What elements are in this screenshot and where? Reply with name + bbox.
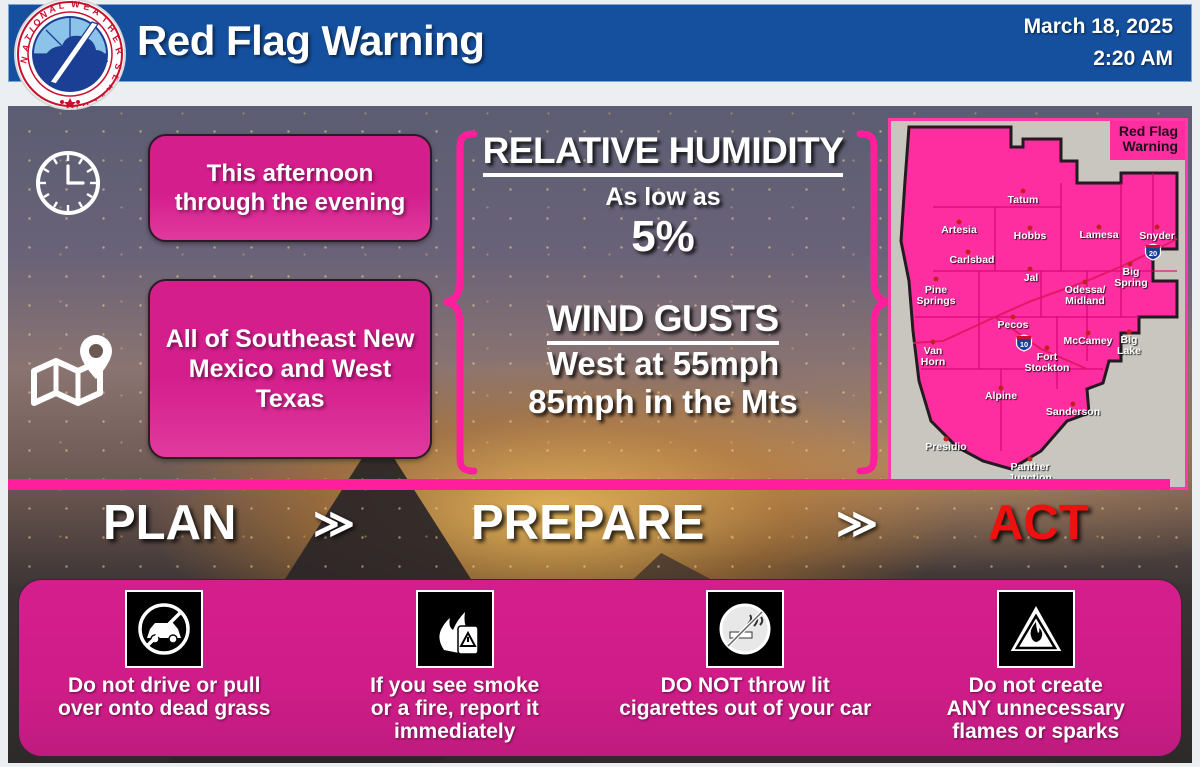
prepare-label: PREPARE — [471, 495, 704, 551]
city-label: BigSpring — [1114, 267, 1147, 288]
legend-line-2: Warning — [1119, 139, 1178, 154]
city-label: Carlsbad — [950, 255, 995, 266]
legend-line-1: Red Flag — [1119, 124, 1178, 139]
act-label: ACT — [988, 495, 1089, 551]
interstate-shield-icon: 10 — [1016, 335, 1033, 352]
city-label: McCamey — [1063, 336, 1112, 347]
wind-heading: WIND GUSTS — [547, 298, 778, 345]
page-title: Red Flag Warning — [137, 17, 484, 65]
city-dot — [1045, 346, 1050, 351]
map-legend: Red Flag Warning — [1110, 121, 1185, 160]
city-dot — [1155, 225, 1160, 230]
clock-icon — [33, 148, 103, 218]
svg-text:W: W — [71, 0, 81, 10]
city-label: Presidio — [925, 442, 966, 453]
tip-line-1: Do not drive or pull — [68, 674, 261, 697]
wind-line-1: West at 55mph — [472, 345, 854, 383]
area-line-1: All of Southeast New — [166, 325, 415, 353]
safety-tips-panel: Do not drive or pull over onto dead gras… — [18, 579, 1182, 757]
no-smoking-icon — [706, 590, 784, 668]
arrow-icon-2: ≫ — [836, 501, 872, 547]
tip-text: DO NOT throw lit cigarettes out of your … — [613, 674, 877, 720]
interstate-shield-icon: 20 — [1145, 244, 1162, 261]
city-label: Sanderson — [1046, 407, 1100, 418]
tip-line-1: DO NOT throw lit — [661, 674, 830, 697]
tip-report-fire: If you see smoke or a fire, report it im… — [310, 580, 601, 756]
plan-label: PLAN — [103, 495, 236, 551]
area-line-3: Texas — [255, 385, 324, 413]
city-label: Jal — [1024, 273, 1039, 284]
flammable-warning-icon — [997, 590, 1075, 668]
conditions-text: RELATIVE HUMIDITY As low as 5% WIND GUST… — [472, 130, 854, 475]
pink-divider — [8, 479, 1170, 490]
spacer — [472, 262, 854, 298]
issue-date: March 18, 2025 — [1024, 15, 1173, 39]
city-dot — [1028, 267, 1033, 272]
city-label: PineSprings — [916, 285, 955, 306]
tip-text: Do not drive or pull over onto dead gras… — [52, 674, 276, 720]
city-label: Tatum — [1008, 195, 1039, 206]
tip-line-2: cigarettes out of your car — [619, 697, 871, 720]
no-driving-on-grass-icon — [125, 590, 203, 668]
tip-do-not-drive-on-grass: Do not drive or pull over onto dead gras… — [19, 580, 310, 756]
city-label: BigLake — [1117, 335, 1141, 356]
svg-text:20: 20 — [1149, 249, 1157, 258]
svg-text:10: 10 — [1020, 340, 1028, 349]
brace-right-icon — [856, 130, 890, 475]
city-dot — [934, 277, 939, 282]
city-label: Lamesa — [1079, 230, 1118, 241]
tip-line-1: Do not create — [969, 674, 1103, 697]
timing-box: This afternoon through the evening — [148, 134, 432, 242]
city-label: Pecos — [998, 320, 1029, 331]
header-bar: Red Flag Warning March 18, 2025 2:20 AM — [8, 4, 1192, 82]
tip-line-2: ANY unnecessary — [947, 697, 1125, 720]
tip-line-1: If you see smoke — [370, 674, 539, 697]
city-dot — [1021, 189, 1026, 194]
arrow-icon-1: ≫ — [313, 501, 349, 547]
city-dot — [931, 340, 936, 345]
tip-text: If you see smoke or a fire, report it im… — [364, 674, 545, 743]
wind-line-2: 85mph in the Mts — [472, 383, 854, 421]
area-line-2: Mexico and West — [189, 355, 391, 383]
timing-line-2: through the evening — [175, 189, 406, 216]
humidity-heading: RELATIVE HUMIDITY — [483, 130, 844, 177]
city-label: VanHorn — [921, 346, 946, 367]
area-box: All of Southeast New Mexico and West Tex… — [148, 279, 432, 459]
tip-line-2: or a fire, report it — [371, 697, 539, 720]
tip-no-flames-or-sparks: Do not create ANY unnecessary flames or … — [891, 580, 1182, 756]
city-label: Odessa/Midland — [1065, 285, 1106, 306]
plan-prepare-act-row: PLAN ≫ PREPARE ≫ ACT — [8, 495, 1184, 573]
humidity-value: 5% — [472, 212, 854, 262]
city-label: FortStockton — [1025, 352, 1070, 373]
issue-time: 2:20 AM — [1093, 47, 1173, 71]
city-label: Snyder — [1139, 231, 1175, 242]
warning-area-map: Red Flag Warning TatumArtesiaHobbsLamesa… — [888, 118, 1188, 490]
humidity-subtext: As low as — [472, 183, 854, 212]
tip-line-3: flames or sparks — [952, 720, 1119, 743]
map-pin-icon — [28, 333, 118, 419]
tip-line-2: over onto dead grass — [58, 697, 270, 720]
conditions-panel: RELATIVE HUMIDITY As low as 5% WIND GUST… — [458, 130, 868, 475]
city-label: Artesia — [941, 225, 977, 236]
tip-no-lit-cigarettes: DO NOT throw lit cigarettes out of your … — [600, 580, 891, 756]
timing-line-1: This afternoon — [207, 160, 374, 187]
red-flag-warning-graphic: Red Flag Warning March 18, 2025 2:20 AM … — [0, 0, 1200, 767]
tip-text: Do not create ANY unnecessary flames or … — [941, 674, 1131, 743]
city-label: Alpine — [985, 391, 1017, 402]
tip-line-3: immediately — [394, 720, 515, 743]
city-label: Hobbs — [1014, 231, 1047, 242]
report-fire-phone-icon — [416, 590, 494, 668]
national-weather-service-logo: N A T I O N A L W E A T H E R S E R V I — [14, 0, 126, 110]
